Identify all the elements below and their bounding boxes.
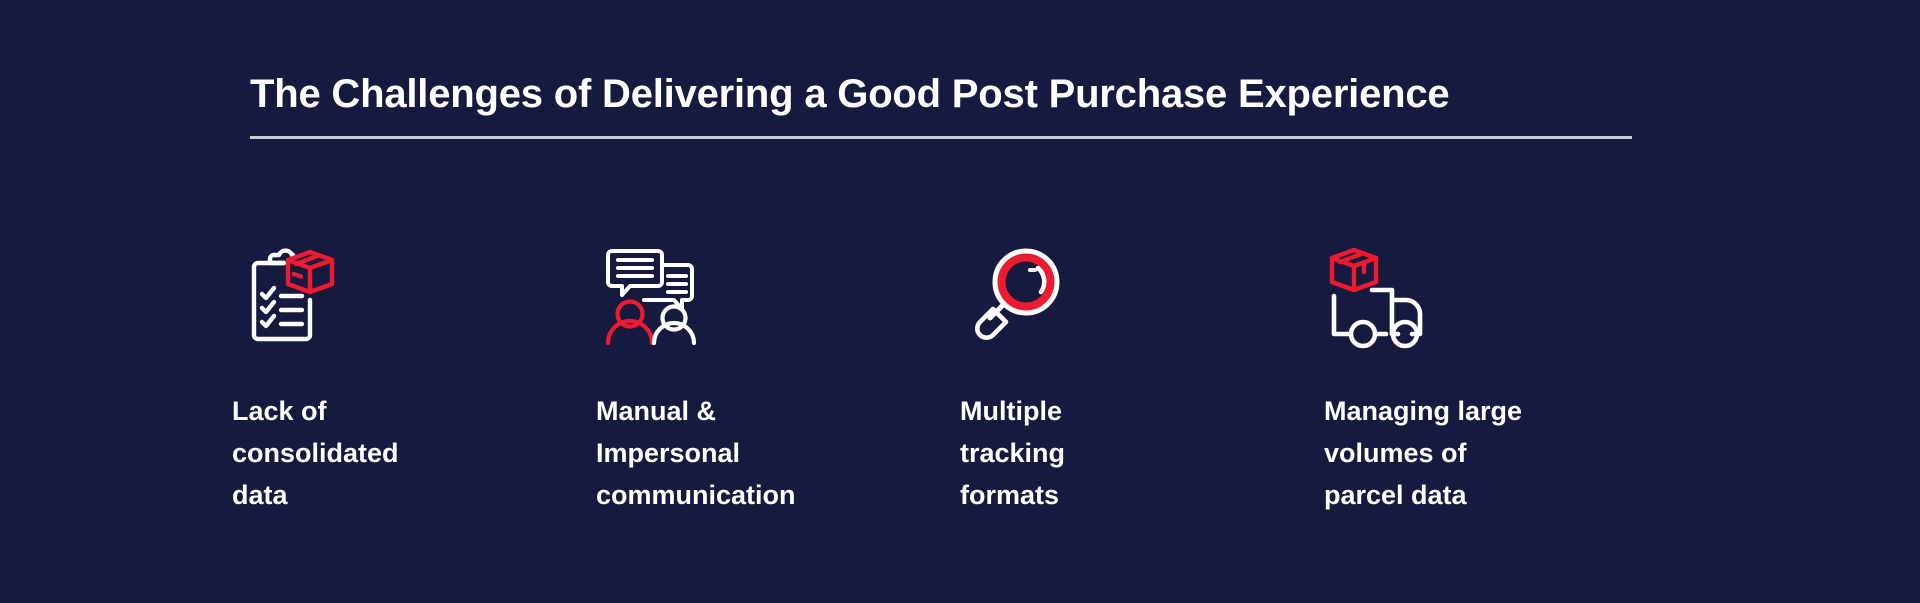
challenge-caption-3: Multiple tracking formats: [960, 391, 1250, 517]
challenges-columns: Lack of consolidated data: [232, 238, 1688, 517]
challenge-caption-1: Lack of consolidated data: [232, 391, 532, 517]
heading-block: The Challenges of Delivering a Good Post…: [250, 72, 1640, 139]
delivery-truck-parcel-icon: [1324, 238, 1688, 360]
slide-root: The Challenges of Delivering a Good Post…: [0, 0, 1920, 603]
speech-bubbles-people-icon: [596, 238, 960, 360]
challenge-column-3: Multiple tracking formats: [960, 238, 1324, 517]
magnifying-glass-icon: [960, 238, 1324, 360]
challenge-column-1: Lack of consolidated data: [232, 238, 596, 517]
challenge-column-2: Manual & Impersonal communication: [596, 238, 960, 517]
page-title: The Challenges of Delivering a Good Post…: [250, 72, 1640, 117]
challenge-caption-2: Manual & Impersonal communication: [596, 391, 886, 517]
title-underline-rule: [250, 136, 1632, 139]
challenge-column-4: Managing large volumes of parcel data: [1324, 238, 1688, 517]
challenge-caption-4: Managing large volumes of parcel data: [1324, 391, 1624, 517]
clipboard-checklist-parcel-icon: [232, 238, 596, 360]
